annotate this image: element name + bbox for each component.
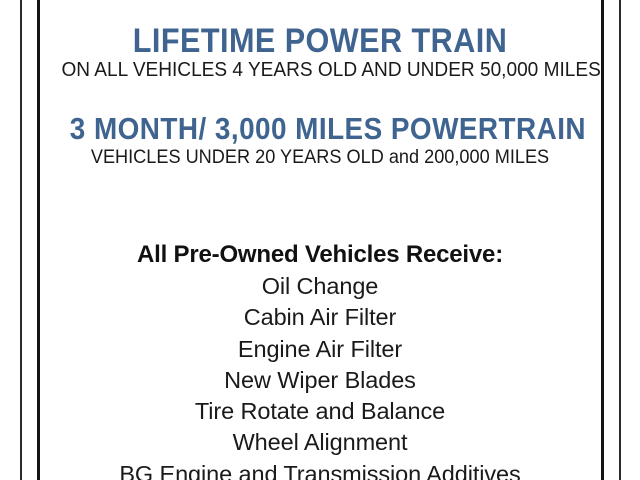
warranty-poster: LIFETIME POWER TRAIN ON ALL VEHICLES 4 Y… <box>0 0 640 480</box>
frame-line-right-inner <box>601 0 604 480</box>
short-term-powertrain-headline: 3 MONTH/ 3,000 MILES POWERTRAIN <box>70 113 570 144</box>
service-list-item: Oil Change <box>42 271 598 302</box>
service-list: Oil ChangeCabin Air FilterEngine Air Fil… <box>42 271 598 480</box>
service-list-item: BG Engine and Transmission Additives <box>42 459 598 480</box>
service-list-item: Tire Rotate and Balance <box>42 396 598 427</box>
lifetime-powertrain-subline: ON ALL VEHICLES 4 YEARS OLD AND UNDER 50… <box>61 60 578 81</box>
service-list-item: Engine Air Filter <box>42 334 598 365</box>
services-title: All Pre-Owned Vehicles Receive: <box>42 239 598 271</box>
service-list-item: New Wiper Blades <box>42 365 598 396</box>
services-section: All Pre-Owned Vehicles Receive: Oil Chan… <box>42 239 598 480</box>
short-term-powertrain-subline: VEHICLES UNDER 20 YEARS OLD and 200,000 … <box>61 148 578 168</box>
service-list-item: Wheel Alignment <box>42 427 598 458</box>
frame-line-right-outer <box>619 0 621 480</box>
frame-line-left-inner <box>37 0 40 480</box>
service-list-item: Cabin Air Filter <box>42 302 598 333</box>
frame-line-left-outer <box>20 0 22 480</box>
lifetime-powertrain-headline: LIFETIME POWER TRAIN <box>70 24 570 58</box>
